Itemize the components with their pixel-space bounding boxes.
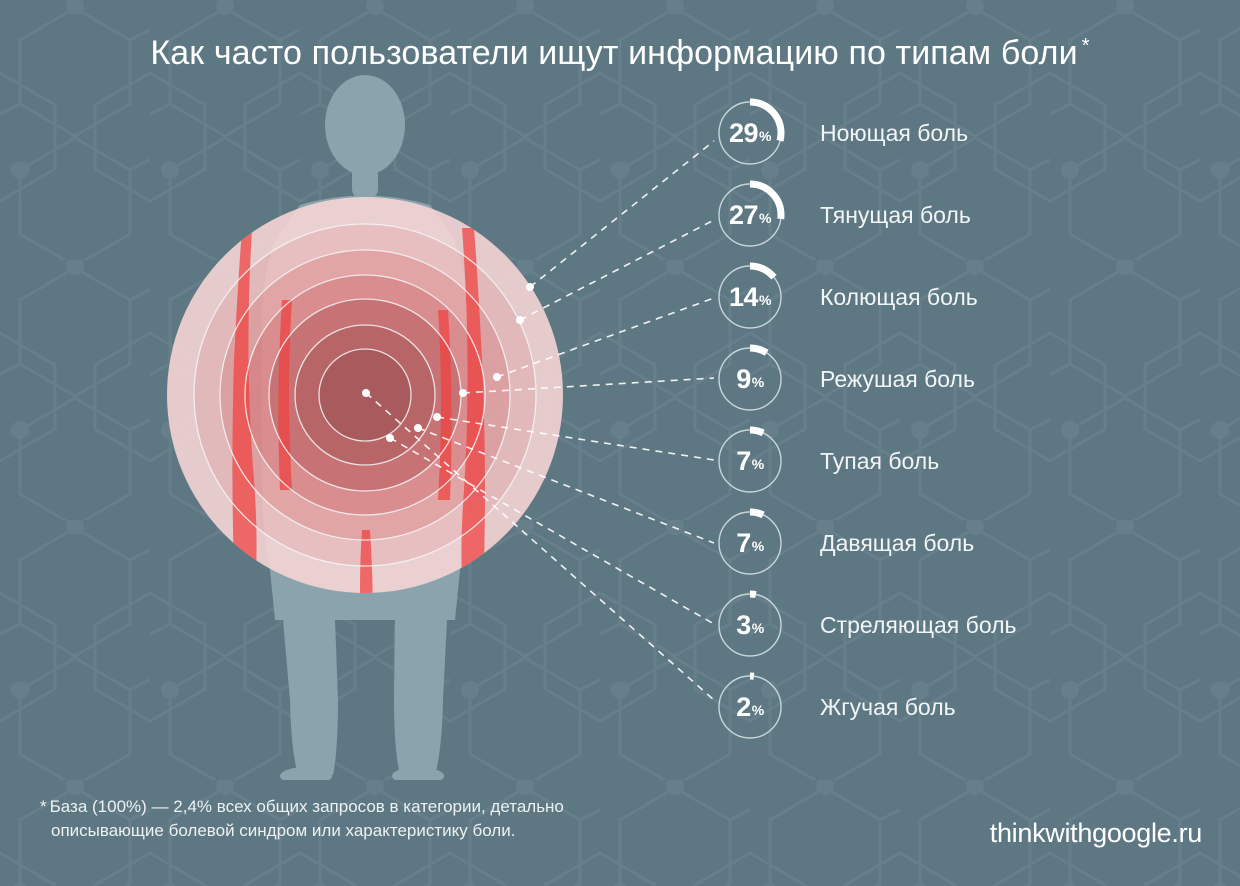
gauge-percent-sign: % (759, 129, 771, 143)
legend-row-burning[interactable]: 2% Жгучая боль (713, 670, 1233, 752)
gauge-number: 7 (736, 530, 751, 557)
footnote-line-1: База (100%) — 2,4% всех общих запросов в… (50, 797, 564, 816)
gauge-percent-sign: % (752, 621, 764, 635)
gauge-number: 7 (736, 448, 751, 475)
footnote: *База (100%) — 2,4% всех общих запросов … (40, 795, 680, 843)
legend-label: Жгучая боль (820, 670, 956, 744)
legend-label: Тянущая боль (820, 178, 971, 252)
gauge-value: 7% (713, 506, 787, 580)
pain-type-legend: 29% Ноющая боль 27% Тянущая боль 14% Кол… (713, 96, 1233, 752)
legend-row-stabbing[interactable]: 14% Колющая боль (713, 260, 1233, 342)
gauge-percent-sign: % (752, 703, 764, 717)
pain-body-illustration (0, 60, 680, 780)
gauge-value: 29% (713, 96, 787, 170)
gauge-number: 14 (729, 284, 758, 311)
title-footnote-marker: * (1082, 35, 1090, 57)
legend-label: Тупая боль (820, 424, 939, 498)
legend-label: Режушая боль (820, 342, 975, 416)
legend-row-cutting[interactable]: 9% Режушая боль (713, 342, 1233, 424)
legend-label: Давящая боль (820, 506, 974, 580)
gauge-percent-sign: % (752, 375, 764, 389)
brand-wordmark[interactable]: thinkwithgoogle.ru (990, 818, 1202, 849)
gauge-value: 9% (713, 342, 787, 416)
legend-label: Стреляющая боль (820, 588, 1017, 662)
legend-row-aching[interactable]: 29% Ноющая боль (713, 96, 1233, 178)
gauge-percent-sign: % (752, 539, 764, 553)
legend-row-pulling[interactable]: 27% Тянущая боль (713, 178, 1233, 260)
gauge-percent-sign: % (759, 293, 771, 307)
legend-label: Колющая боль (820, 260, 978, 334)
gauge-number: 9 (736, 366, 751, 393)
gauge-value: 27% (713, 178, 787, 252)
gauge-value: 3% (713, 588, 787, 662)
gauge-number: 2 (736, 694, 751, 721)
legend-row-dull[interactable]: 7% Тупая боль (713, 424, 1233, 506)
gauge-percent-sign: % (759, 211, 771, 225)
legend-label: Ноющая боль (820, 96, 968, 170)
gauge-value: 7% (713, 424, 787, 498)
legend-row-shooting[interactable]: 3% Стреляющая боль (713, 588, 1233, 670)
gauge-number: 3 (736, 612, 751, 639)
gauge-value: 2% (713, 670, 787, 744)
gauge-percent-sign: % (752, 457, 764, 471)
legend-row-pressing[interactable]: 7% Давящая боль (713, 506, 1233, 588)
footnote-marker: * (40, 797, 47, 816)
gauge-number: 29 (729, 120, 758, 147)
gauge-number: 27 (729, 202, 758, 229)
footnote-line-2: описывающие болевой синдром или характер… (40, 819, 680, 843)
gauge-value: 14% (713, 260, 787, 334)
infographic-canvas: Как часто пользователи ищут информацию п… (0, 0, 1240, 886)
